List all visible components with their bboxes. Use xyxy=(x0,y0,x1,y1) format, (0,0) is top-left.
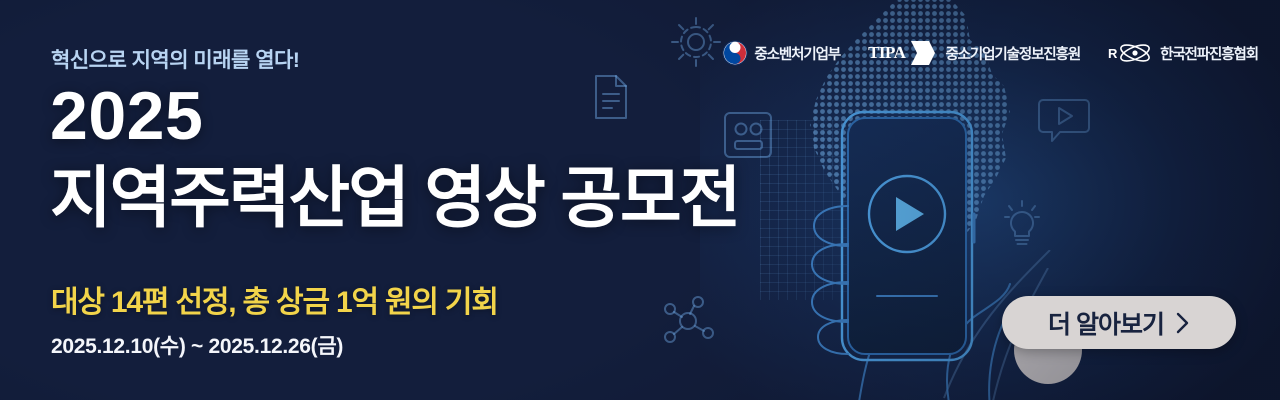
logo-ministry-label: 중소벤처기업부 xyxy=(754,43,840,64)
partner-logos: 중소벤처기업부 TIPA 중소기업기술정보진흥원 R 한국전파진흥협회 xyxy=(722,36,1258,70)
korea-government-taegeuk-emblem xyxy=(722,40,748,66)
logo-rapa[interactable]: R 한국전파진흥협회 xyxy=(1108,38,1258,68)
page-title: 지역주력산업 영상 공모전 xyxy=(50,163,739,235)
tipa-chevron-mark xyxy=(909,38,935,68)
logo-ministry-sme-startups[interactable]: 중소벤처기업부 xyxy=(722,38,840,68)
promo-banner: 혁신으로 지역의 미래를 열다! 2025 지역주력산업 영상 공모전 대상 1… xyxy=(0,0,1280,400)
banner-content: 혁신으로 지역의 미래를 열다! 2025 지역주력산업 영상 공모전 대상 1… xyxy=(50,0,770,400)
learn-more-label: 더 알아보기 xyxy=(1048,305,1164,341)
logo-tipa-label: 중소기업기술정보진흥원 xyxy=(945,43,1080,64)
chevron-right-icon xyxy=(1175,311,1190,335)
learn-more-button[interactable]: 더 알아보기 xyxy=(1002,296,1236,349)
tipa-wordmark: TIPA xyxy=(868,43,905,63)
year-title: 2025 xyxy=(50,82,203,150)
eyebrow-text: 혁신으로 지역의 미래를 열다! xyxy=(51,44,299,74)
application-period: 2025.12.10(수) ~ 2025.12.26(금) xyxy=(51,330,343,360)
prize-highlight: 대상 14편 선정, 총 상금 1억 원의 기회 xyxy=(51,277,498,321)
svg-text:R: R xyxy=(1108,46,1118,61)
logo-rapa-label: 한국전파진흥협회 xyxy=(1160,43,1258,64)
rapa-atom-mark: R xyxy=(1108,41,1154,65)
logo-tipa[interactable]: TIPA 중소기업기술정보진흥원 xyxy=(868,38,1080,68)
